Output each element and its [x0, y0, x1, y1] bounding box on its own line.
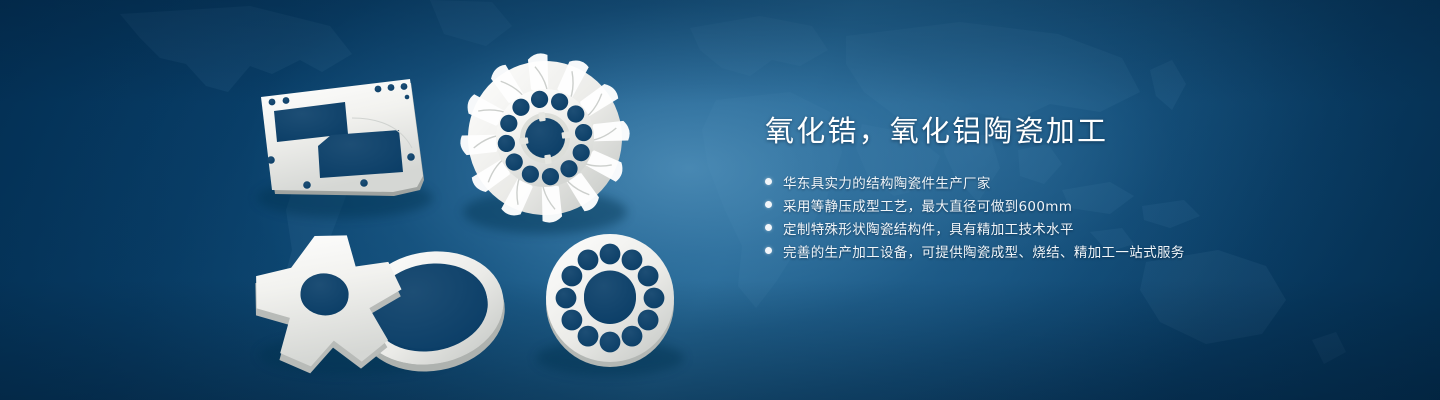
feature-list: 华东具实力的结构陶瓷件生产厂家 采用等静压成型工艺，最大直径可做到600mm 定…: [765, 170, 1405, 262]
feature-list-item: 完善的生产加工设备，可提供陶瓷成型、烧结、精加工一站式服务: [765, 239, 1405, 262]
feature-list-item: 华东具实力的结构陶瓷件生产厂家: [765, 170, 1405, 193]
ceramic-products-image: [0, 0, 760, 400]
banner-copy: 氧化锆，氧化铝陶瓷加工 华东具实力的结构陶瓷件生产厂家 采用等静压成型工艺，最大…: [765, 112, 1405, 262]
bullet-dot-icon: [765, 247, 772, 254]
bullet-dot-icon: [765, 224, 772, 231]
feature-text: 采用等静压成型工艺，最大直径可做到600mm: [783, 195, 1072, 215]
hero-banner: 氧化锆，氧化铝陶瓷加工 华东具实力的结构陶瓷件生产厂家 采用等静压成型工艺，最大…: [0, 0, 1440, 400]
feature-text: 完善的生产加工设备，可提供陶瓷成型、烧结、精加工一站式服务: [783, 241, 1185, 261]
bullet-dot-icon: [765, 178, 772, 185]
ceramic-plate-part: [261, 79, 424, 196]
ceramic-hole-disc-part: [546, 234, 674, 367]
feature-text: 定制特殊形状陶瓷结构件，具有精加工技术水平: [783, 218, 1074, 238]
bullet-dot-icon: [765, 201, 772, 208]
feature-list-item: 采用等静压成型工艺，最大直径可做到600mm: [765, 193, 1405, 216]
banner-headline: 氧化锆，氧化铝陶瓷加工: [765, 112, 1405, 150]
feature-text: 华东具实力的结构陶瓷件生产厂家: [783, 172, 991, 192]
feature-list-item: 定制特殊形状陶瓷结构件，具有精加工技术水平: [765, 216, 1405, 239]
